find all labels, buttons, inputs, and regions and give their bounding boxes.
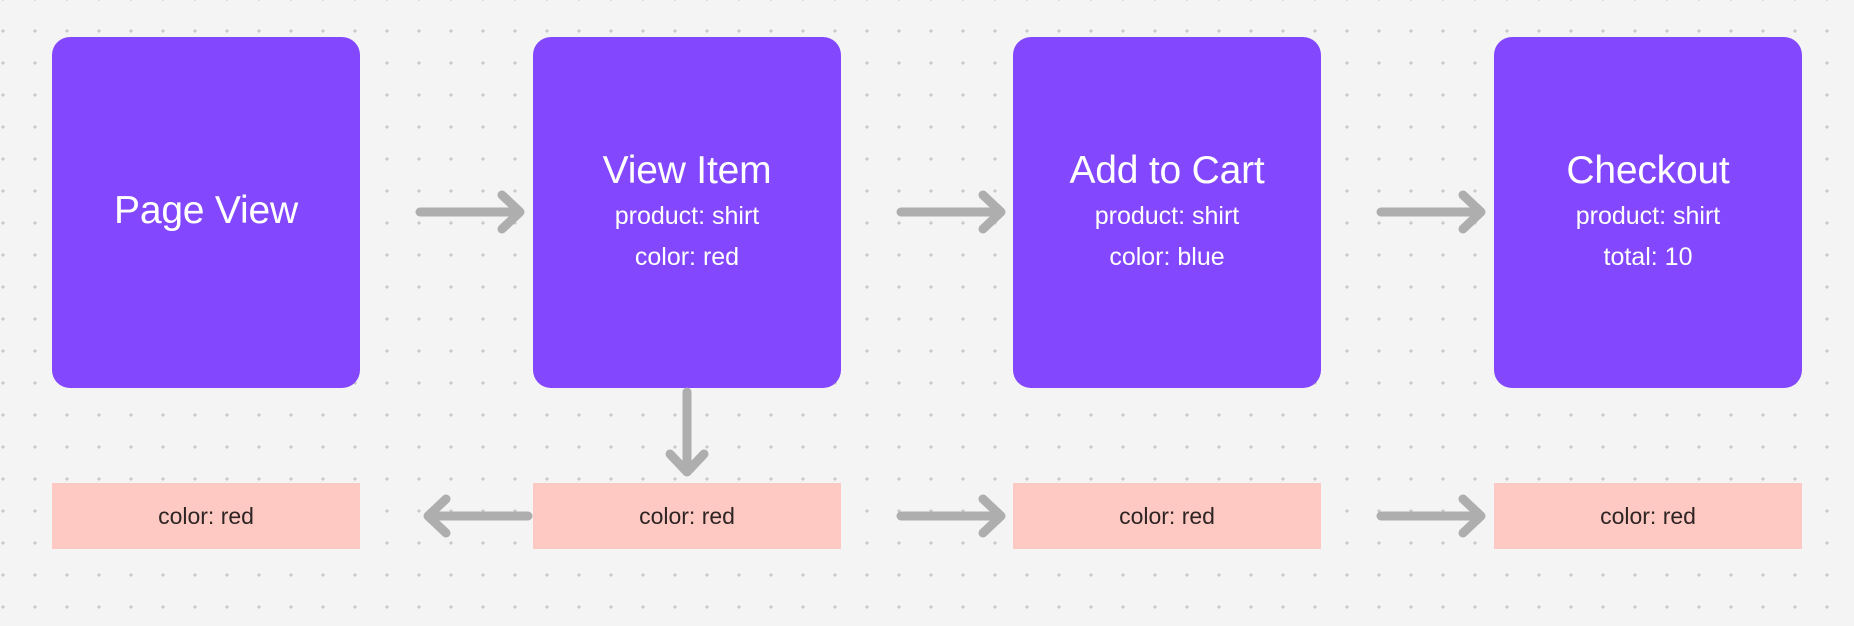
event-node-properties: product: shirt color: red [615, 196, 760, 277]
event-node-checkout[interactable]: Checkout product: shirt total: 10 [1494, 37, 1802, 388]
property-node-label: color: red [1600, 505, 1696, 528]
arrow-down-icon [663, 388, 711, 483]
event-property: color: blue [1095, 237, 1240, 278]
property-node-1[interactable]: color: red [52, 483, 360, 549]
property-node-4[interactable]: color: red [1494, 483, 1802, 549]
event-node-properties: product: shirt color: blue [1095, 196, 1240, 277]
event-node-page-view[interactable]: Page View [52, 37, 360, 388]
arrow-right-icon [1377, 188, 1493, 236]
event-node-title: Page View [114, 188, 298, 234]
event-property: total: 10 [1576, 237, 1721, 278]
property-node-2[interactable]: color: red [533, 483, 841, 549]
event-node-properties: product: shirt total: 10 [1576, 196, 1721, 277]
arrow-left-icon [416, 492, 532, 540]
event-property: product: shirt [1095, 196, 1240, 237]
arrow-right-icon [897, 492, 1013, 540]
arrow-right-icon [897, 188, 1013, 236]
property-node-3[interactable]: color: red [1013, 483, 1321, 549]
arrow-right-icon [416, 188, 532, 236]
event-property: color: red [615, 237, 760, 278]
flow-diagram-canvas[interactable]: Page View View Item product: shirt color… [0, 0, 1854, 626]
event-property: product: shirt [615, 196, 760, 237]
event-property: product: shirt [1576, 196, 1721, 237]
event-node-title: Checkout [1566, 148, 1729, 194]
property-node-label: color: red [639, 505, 735, 528]
arrow-right-icon [1377, 492, 1493, 540]
event-node-add-to-cart[interactable]: Add to Cart product: shirt color: blue [1013, 37, 1321, 388]
event-node-title: Add to Cart [1069, 148, 1264, 194]
event-node-title: View Item [603, 148, 772, 194]
property-node-label: color: red [1119, 505, 1215, 528]
property-node-label: color: red [158, 505, 254, 528]
event-node-view-item[interactable]: View Item product: shirt color: red [533, 37, 841, 388]
